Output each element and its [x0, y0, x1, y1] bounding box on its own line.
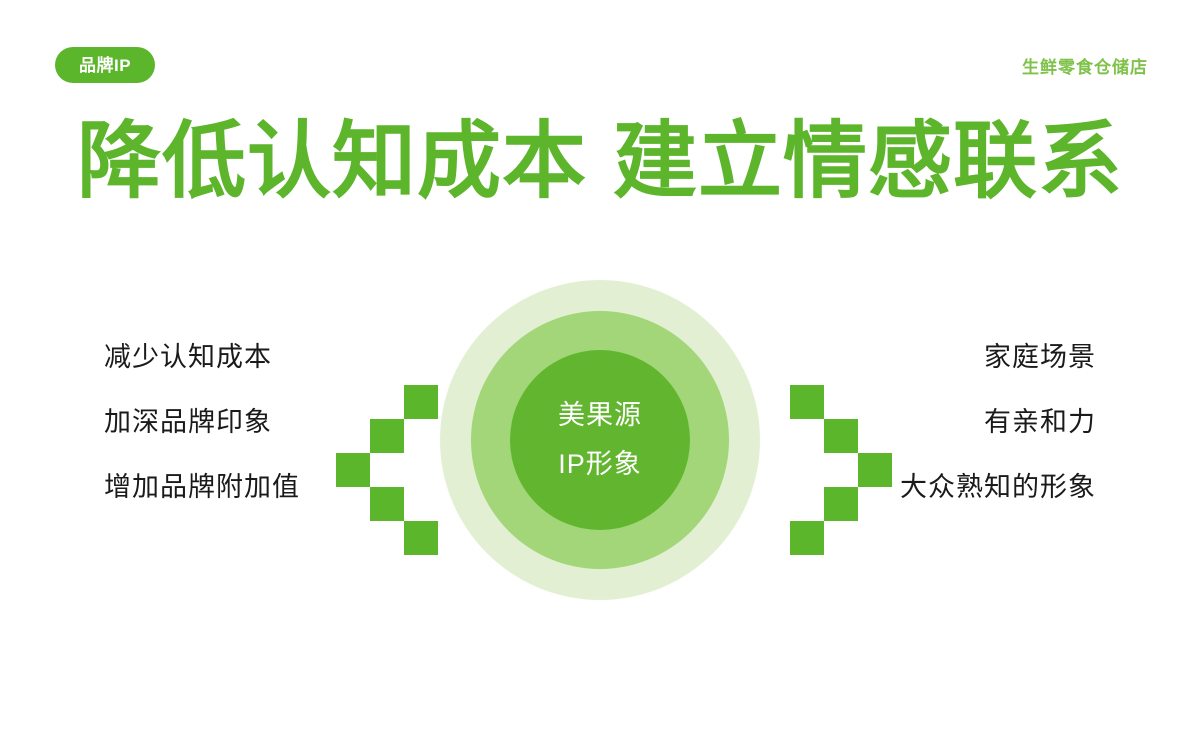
core-label-line-2: IP形象	[558, 451, 642, 478]
list-item: 有亲和力	[984, 409, 1140, 436]
chevron-pixel	[790, 521, 824, 555]
core-label-line-1: 美果源	[558, 402, 642, 429]
list-item: 增加品牌附加值	[60, 474, 300, 501]
page-title-part-2: 建立情感联系	[613, 114, 1123, 208]
list-item: 大众熟知的形象	[900, 474, 1140, 501]
attributes-list-right: 家庭场景 有亲和力 大众熟知的形象	[810, 344, 1140, 501]
list-item: 减少认知成本	[60, 344, 272, 371]
chevron-pixel	[404, 385, 438, 419]
ip-core-diagram: 美果源 IP形象	[440, 280, 760, 600]
benefits-list-left: 减少认知成本 加深品牌印象 增加品牌附加值	[60, 344, 390, 501]
list-item: 家庭场景	[984, 344, 1140, 371]
brand-ip-badge-label: 品牌IP	[79, 57, 131, 74]
store-category-kicker: 生鲜零食仓储店	[1022, 53, 1148, 78]
chevron-pixel	[404, 521, 438, 555]
page-title: 降低认知成本建立情感联系	[0, 114, 1200, 208]
page-title-part-1: 降低认知成本	[77, 114, 587, 208]
circle-ring-inner: 美果源 IP形象	[510, 350, 690, 530]
brand-ip-badge: 品牌IP	[55, 47, 155, 83]
slide-canvas: 品牌IP 生鲜零食仓储店 降低认知成本建立情感联系 美果源 IP形象 减少认知成…	[0, 0, 1200, 750]
list-item: 加深品牌印象	[60, 409, 272, 436]
